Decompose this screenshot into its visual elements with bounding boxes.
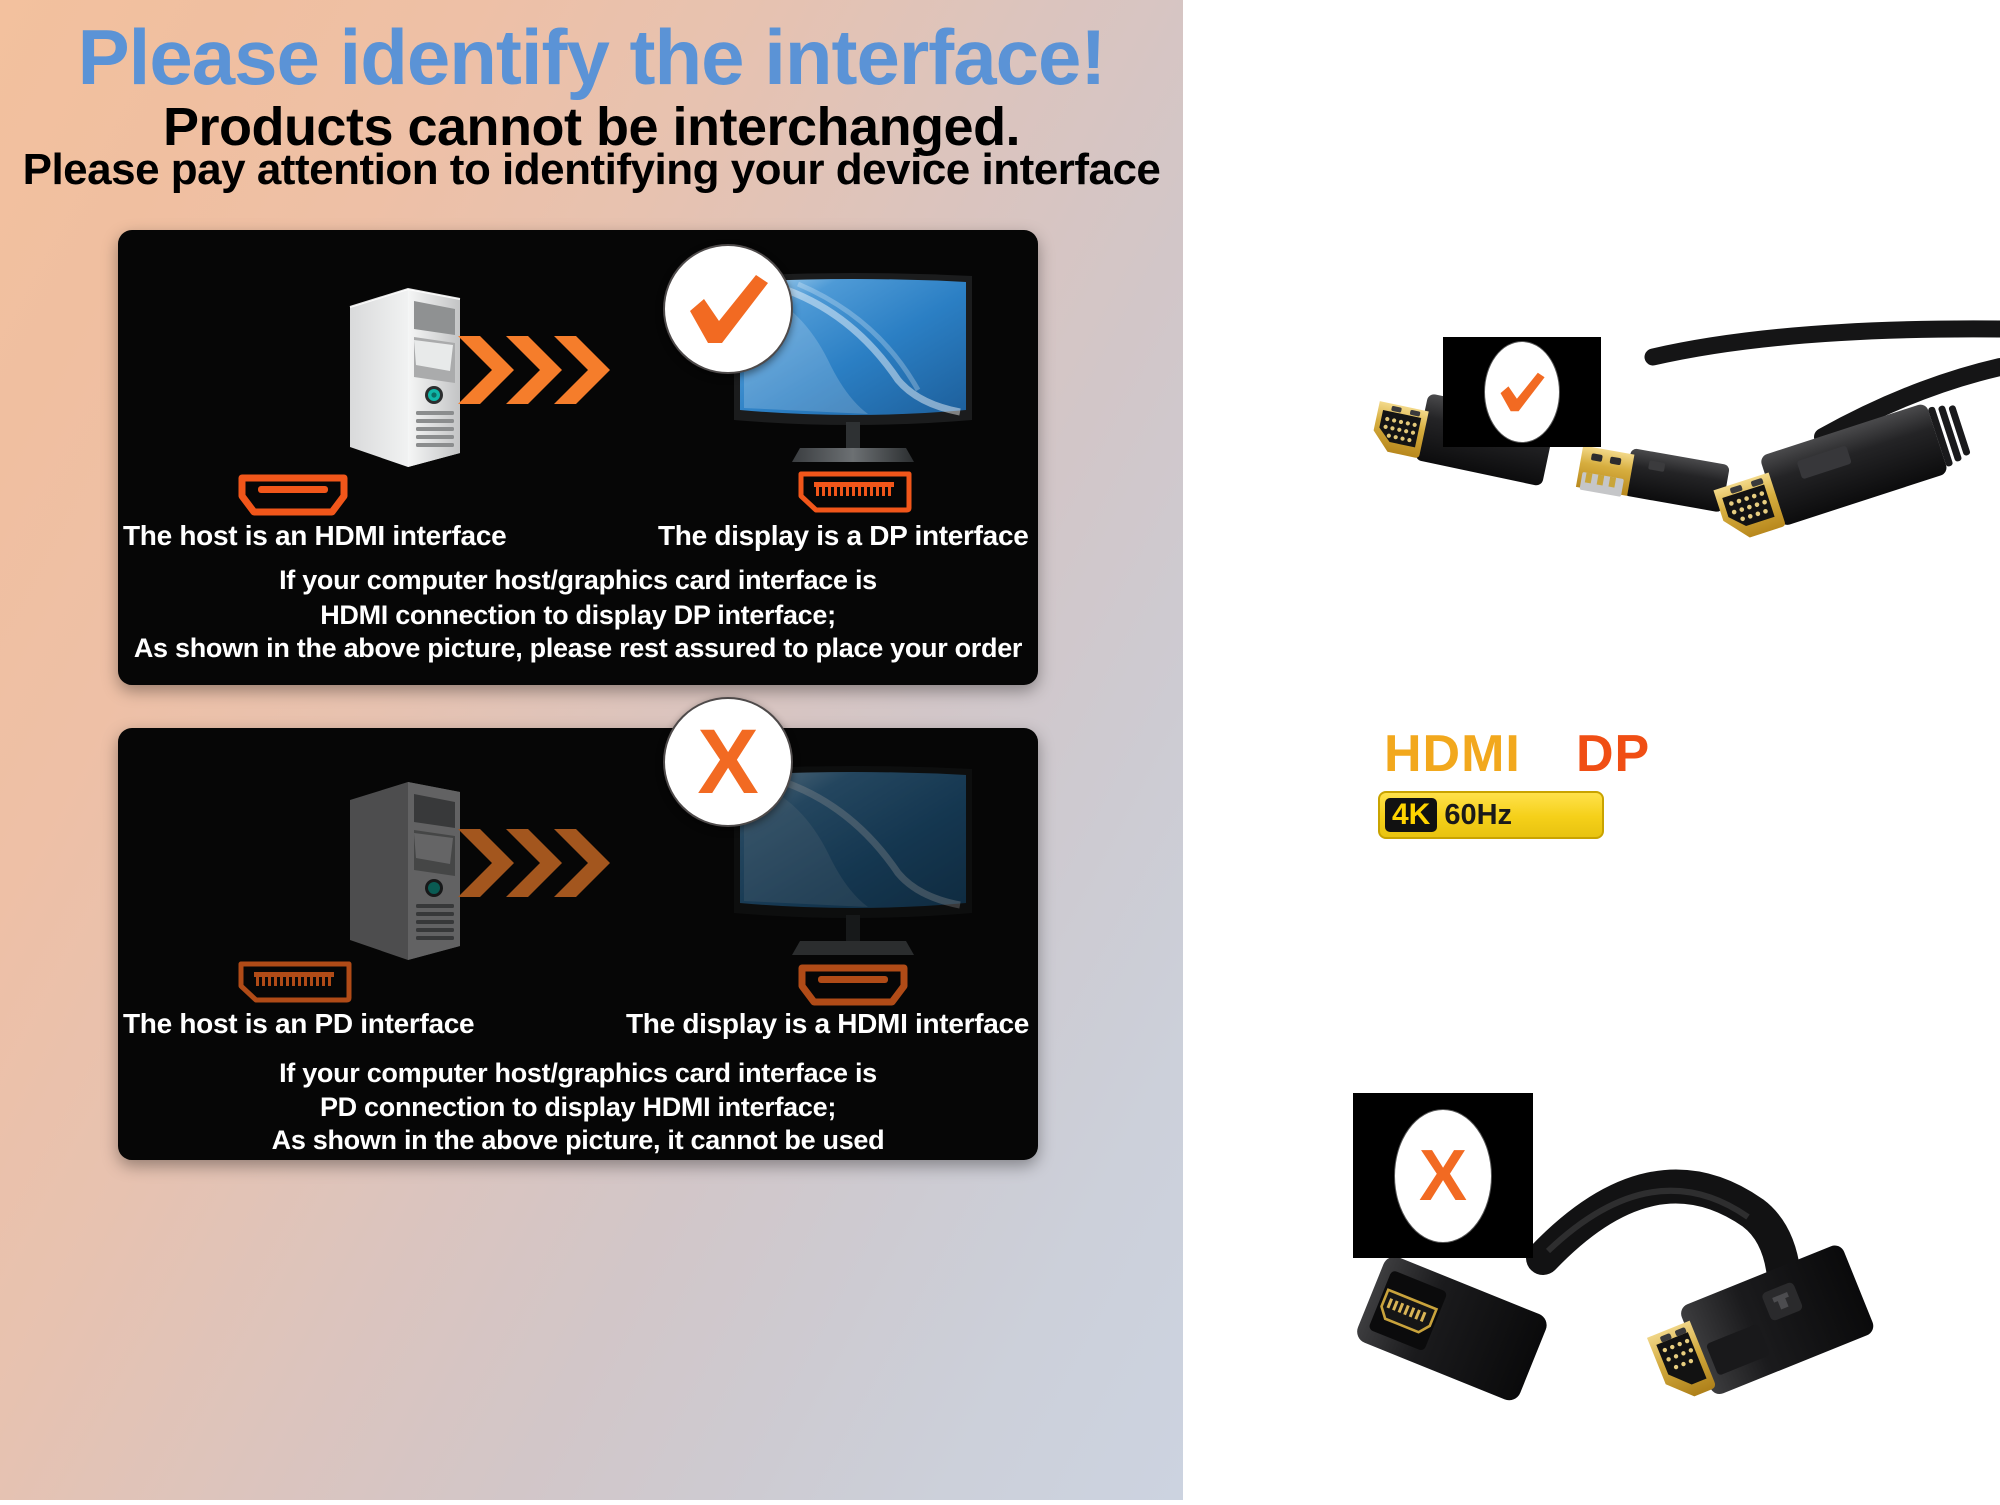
bad-display-label: The display is a HDMI interface <box>626 1008 1029 1040</box>
chevron-arrows-icon-dim <box>458 823 633 903</box>
hdmi-port-icon <box>236 470 350 520</box>
dp-port-icon-dim <box>236 960 354 1004</box>
dp-port-icon <box>796 470 914 514</box>
product-photo-cable <box>1353 317 2000 675</box>
hdmi-label: HDMI <box>1378 722 1527 786</box>
check-badge <box>663 244 793 374</box>
bad-host-label: The host is an PD interface <box>123 1008 474 1040</box>
pc-tower-illustration-dim <box>346 778 464 963</box>
page-note: Please pay attention to identifying your… <box>0 145 1183 195</box>
product-check-badge <box>1443 337 1601 447</box>
hdmi-port-icon-dim <box>796 960 910 1010</box>
page-title: Please identify the interface! <box>0 12 1183 103</box>
good-body-line-1: If your computer host/graphics card inte… <box>118 565 1038 596</box>
x-mark-icon: X <box>1419 1140 1467 1212</box>
check-mark-icon <box>1496 368 1548 416</box>
pc-tower-illustration <box>346 285 464 470</box>
good-host-label: The host is an HDMI interface <box>123 520 506 552</box>
good-display-label: The display is a DP interface <box>658 520 1029 552</box>
dp-label: DP <box>1570 722 1664 786</box>
product-photo-adapter: X <box>1353 1093 2000 1500</box>
chevron-arrows-icon <box>458 330 633 410</box>
refresh-rate-text: 60Hz <box>1444 799 1512 832</box>
resolution-badge: 4K 60Hz <box>1378 791 1604 839</box>
bad-example-card: The host is an PD interface The display … <box>118 728 1038 1160</box>
good-body-line-2: HDMI connection to display DP interface; <box>118 600 1038 631</box>
resolution-4k-text: 4K <box>1385 798 1437 832</box>
check-mark-icon <box>682 269 774 349</box>
bad-body-line-3: As shown in the above picture, it cannot… <box>118 1125 1038 1156</box>
x-badge: X <box>663 697 793 827</box>
x-mark-icon: X <box>697 716 758 808</box>
bad-body-line-1: If your computer host/graphics card inte… <box>118 1058 1038 1089</box>
good-body-line-3: As shown in the above picture, please re… <box>118 633 1038 664</box>
bad-body-line-2: PD connection to display HDMI interface; <box>118 1092 1038 1123</box>
good-example-card: The host is an HDMI interface The displa… <box>118 230 1038 685</box>
product-x-badge: X <box>1353 1093 1533 1258</box>
